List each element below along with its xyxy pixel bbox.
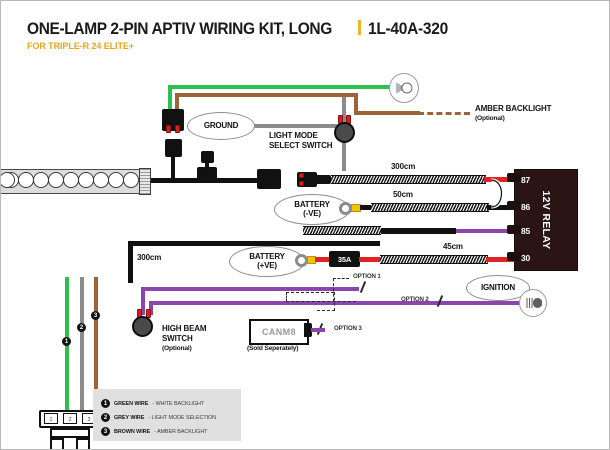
legend-wire-1: GREEN WIRE	[114, 401, 148, 407]
brown-wire-dashed-extension	[418, 112, 470, 115]
part-code: 1L-40A-320	[368, 20, 448, 39]
wire-marker-2: 2	[77, 323, 86, 332]
option1-break-slash	[360, 281, 366, 293]
relay-pin-30: 30	[521, 253, 530, 263]
canm8-purple-lead	[311, 328, 325, 332]
inline-connector-pin-bottom	[299, 181, 304, 186]
high-beam-switch[interactable]	[132, 316, 153, 337]
option2-dash-riser	[286, 292, 287, 302]
legend-item-2: 2 GREY WIRE - LIGHT MODE SELECTION	[101, 413, 216, 422]
option2-dash-top	[286, 292, 334, 293]
harness-main-connector	[257, 169, 281, 189]
battery-positive-callout: BATTERY (+VE)	[229, 246, 305, 277]
option1-dash-lead	[333, 278, 349, 279]
lamp-glyph	[395, 82, 413, 94]
battery-negative-cable	[371, 203, 489, 212]
length-label-relay-main: 300cm	[391, 163, 415, 172]
relay-terminal-86	[507, 201, 521, 210]
relay-12v: 12V RELAY 87 86 85 30	[514, 169, 578, 271]
legend-desc-1: - WHITE BACKLIGHT	[152, 401, 204, 407]
legend-wire-2: GREY WIRE	[114, 415, 144, 421]
plug-foot-right	[76, 438, 90, 450]
legend-badge-1: 1	[101, 399, 110, 408]
wiring-diagram-page: ONE-LAMP 2-PIN APTIV WIRING KIT, LONG 1L…	[0, 0, 610, 450]
connector-drop-wire	[171, 156, 175, 180]
brown-wire-horizontal-top	[175, 93, 358, 97]
battery-positive-cable	[380, 255, 488, 264]
light-bar-endcap	[139, 168, 151, 195]
battery-positive-trunk-drop	[128, 241, 133, 283]
page-title: ONE-LAMP 2-PIN APTIV WIRING KIT, LONG	[27, 20, 332, 39]
option1-purple-run	[141, 287, 359, 291]
light-mode-switch-label-line1: LIGHT MODE	[269, 132, 318, 141]
brown-wire-horizontal-bottom	[354, 111, 420, 115]
pin85-black-lead	[378, 228, 456, 234]
wire-legend-panel: 1 GREEN WIRE - WHITE BACKLIGHT 2 GREY WI…	[93, 389, 241, 441]
fuse-output-wire	[359, 257, 381, 262]
title-row: ONE-LAMP 2-PIN APTIV WIRING KIT, LONG 1L…	[27, 19, 587, 39]
fuse-holder-35a: 35A	[329, 251, 360, 267]
battery-positive-trunk	[128, 241, 380, 246]
option-1-label: OPTION 1	[353, 274, 381, 281]
option-2-label: OPTION 2	[401, 297, 429, 304]
title-divider	[358, 20, 361, 35]
grey-wire-bottom	[80, 277, 84, 413]
length-label-high-beam: 300cm	[137, 254, 161, 263]
ground-label: GROUND	[204, 122, 238, 130]
plug-pin-slot-1: 1	[44, 413, 58, 424]
length-label-battery-neg: 50cm	[393, 191, 413, 200]
high-beam-note: (Optional)	[162, 345, 192, 352]
battery-pos-line2: (+VE)	[257, 261, 277, 270]
pin85-cable	[303, 226, 381, 235]
page-header: ONE-LAMP 2-PIN APTIV WIRING KIT, LONG 1L…	[27, 19, 587, 52]
connector-pin-right	[175, 125, 180, 133]
legend-badge-3: 3	[101, 427, 110, 436]
aptiv-connector-lower	[165, 139, 182, 157]
ignition-label: IGNITION	[481, 284, 515, 292]
plug-pin-slot-2: 2	[63, 413, 77, 424]
option-3-label: OPTION 3	[334, 326, 362, 333]
wire-marker-1: 1	[62, 337, 71, 346]
high-beam-headlight-icon	[519, 289, 547, 317]
option2-dash-lead	[286, 301, 356, 302]
option3-dash-vertical	[334, 292, 335, 311]
connector-pin-left	[166, 125, 171, 133]
legend-desc-3: - AMBER BACKLIGHT	[154, 429, 207, 435]
wire-marker-3: 3	[91, 311, 100, 320]
pin85-purple-wire	[454, 229, 515, 233]
amber-backlight-note: (Optional)	[475, 115, 505, 122]
legend-item-3: 3 BROWN WIRE - AMBER BACKLIGHT	[101, 427, 207, 436]
canm8-module: CANM8	[249, 319, 309, 345]
harness-branch-wire	[205, 161, 209, 179]
length-label-battery-pos: 45cm	[443, 243, 463, 252]
light-mode-switch-label-line2: SELECT SWITCH	[269, 142, 332, 151]
legend-desc-2: - LIGHT MODE SELECTION	[148, 415, 216, 421]
white-backlight-lamp-icon	[389, 73, 419, 103]
ground-callout: GROUND	[187, 112, 255, 140]
page-subtitle: FOR TRIPLE-R 24 ELITE+	[27, 41, 559, 52]
three-pin-plug: 1 2 3	[39, 410, 101, 450]
canm8-note: (Sold Seperately)	[247, 345, 298, 352]
plug-neck	[50, 428, 90, 438]
relay-terminal-87	[507, 173, 521, 182]
relay-main-cable	[331, 175, 486, 184]
headlight-glyph	[525, 297, 542, 309]
plug-foot-left	[50, 438, 64, 450]
inline-connector-shroud	[315, 175, 331, 184]
amber-backlight-label: AMBER BACKLIGHT	[475, 105, 551, 114]
relay-pin-86: 86	[521, 202, 530, 212]
high-beam-label-line1: HIGH BEAM	[162, 325, 206, 334]
battery-positive-label: BATTERY (+VE)	[249, 253, 285, 270]
legend-item-1: 1 GREEN WIRE - WHITE BACKLIGHT	[101, 399, 204, 408]
relay-pin-87: 87	[521, 175, 530, 185]
battery-neg-line2: (-VE)	[303, 209, 321, 218]
inline-connector-pin-top	[299, 173, 304, 178]
option3-dash-lead	[317, 310, 335, 311]
light-bar	[0, 169, 151, 194]
legend-wire-3: BROWN WIRE	[114, 429, 150, 435]
relay-terminal-85	[507, 225, 521, 234]
battery-negative-label: BATTERY (-VE)	[294, 201, 330, 218]
relay-label: 12V RELAY	[540, 191, 552, 250]
light-mode-select-switch[interactable]	[334, 122, 355, 143]
high-beam-label-line2: SWITCH	[162, 335, 193, 344]
relay-terminal-30	[507, 252, 521, 261]
green-wire-horizontal	[168, 85, 390, 89]
legend-badge-2: 2	[101, 413, 110, 422]
relay-pin-85: 85	[521, 226, 530, 236]
